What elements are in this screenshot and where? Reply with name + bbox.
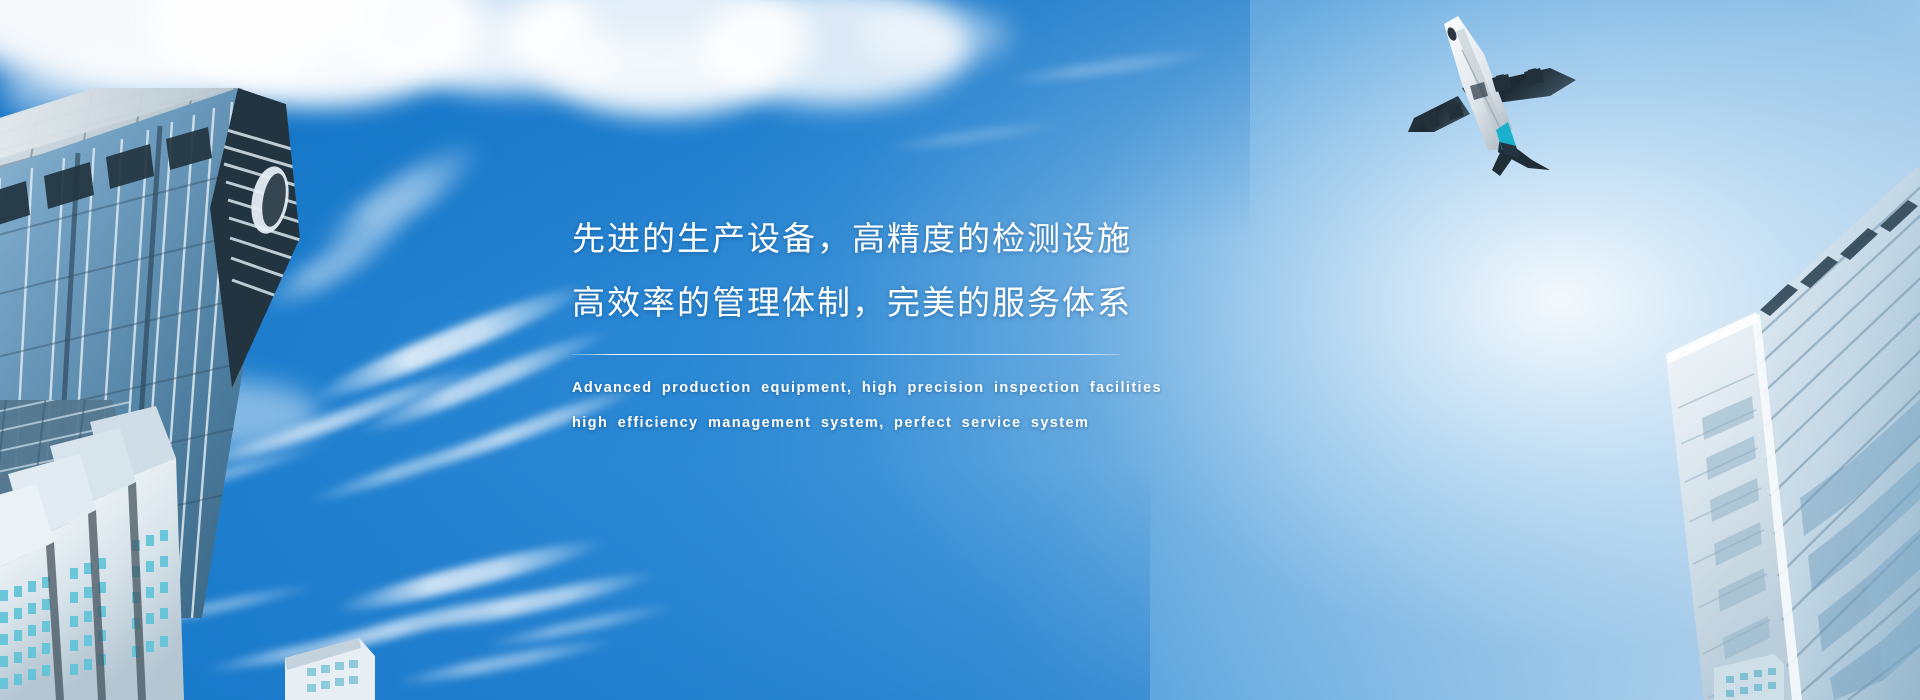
airplane-icon <box>1400 10 1590 185</box>
cirrus-streak-icon <box>1000 45 1220 89</box>
divider <box>572 354 1120 355</box>
hero-banner: 先进的生产设备，高精度的检测设施 高效率的管理体制，完美的服务体系 Advanc… <box>0 0 1920 700</box>
cloud-icon <box>560 35 770 115</box>
cirrus-streak-icon <box>880 117 1070 155</box>
distant-right-building <box>1700 648 1820 700</box>
cloud-icon <box>860 5 1010 65</box>
headline-line-1: 先进的生产设备，高精度的检测设施 <box>572 222 1272 255</box>
banner-copy: 先进的生产设备，高精度的检测设施 高效率的管理体制，完美的服务体系 Advanc… <box>572 222 1272 431</box>
subtitle-line-2: high efficiency management system, perfe… <box>572 415 1272 431</box>
subtitle-line-1: Advanced production equipment, high prec… <box>572 380 1272 396</box>
headline-line-2: 高效率的管理体制，完美的服务体系 <box>572 286 1272 319</box>
right-glass-tower <box>1648 168 1920 700</box>
distant-white-building <box>255 630 395 700</box>
